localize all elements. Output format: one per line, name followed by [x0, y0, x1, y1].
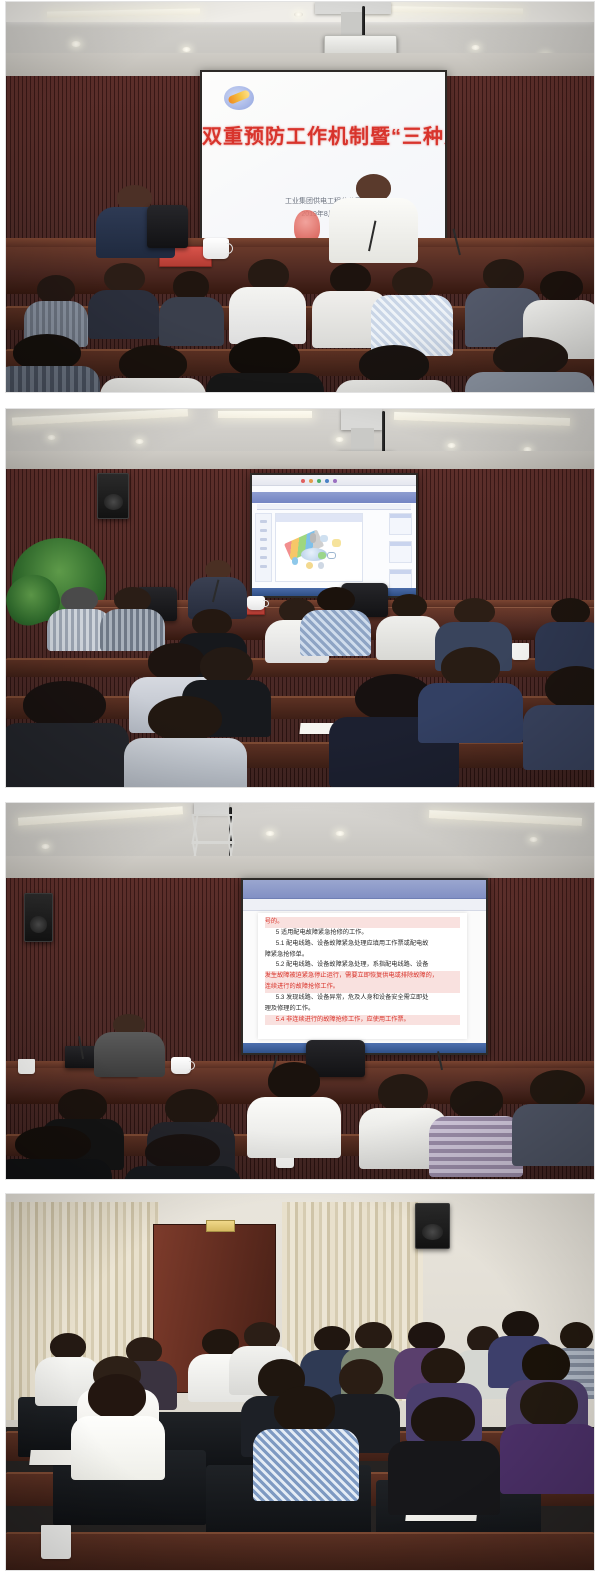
person-head [392, 594, 427, 618]
audience-member [24, 275, 89, 341]
document-line: 连续进行的故障抢修工作。 [265, 982, 460, 993]
document-line: 发生故障被迫紧急停止运行，需要立即恢复供电或排除故障的， [265, 971, 460, 982]
person-head [200, 647, 253, 684]
person-head [441, 647, 500, 687]
person-body [429, 1116, 523, 1177]
conference-room-scene-3: 号的。 5 适用配电故障紧急抢修的工作。 5.1 配电线路、设备故障紧急处理应填… [6, 803, 594, 1179]
chip-icon [327, 552, 336, 559]
audience-member-front [124, 1134, 242, 1180]
browser-address-bar [252, 475, 416, 486]
software-portal-slide [252, 475, 416, 596]
exam-candidate-front [388, 1397, 500, 1510]
projector-cable [362, 6, 365, 37]
person-head [483, 259, 524, 290]
person-head [522, 1344, 570, 1384]
person-head [274, 1386, 335, 1433]
person-body [535, 622, 595, 671]
downlight [529, 837, 538, 842]
person-body [100, 378, 206, 393]
document-slide: 号的。 5 适用配电故障紧急抢修的工作。 5.1 配电线路、设备故障紧急处理应填… [243, 880, 486, 1053]
wall-speaker [97, 473, 129, 518]
wall-speaker [24, 893, 53, 942]
person-body [124, 1166, 242, 1180]
screen-content: 号的。 5 适用配电故障紧急抢修的工作。 5.1 配电线路、设备故障紧急处理应填… [243, 880, 486, 1053]
projection-screen-2[interactable] [250, 473, 418, 598]
document-line: 5.1 配电线路、设备故障紧急处理应填用工作票或配电故 [265, 939, 460, 950]
person-body [229, 287, 305, 343]
person-body [300, 610, 371, 656]
document-line: 障紧急抢修单。 [265, 950, 460, 961]
photo-written-examination[interactable] [5, 1193, 595, 1571]
person-head [248, 259, 289, 290]
ceiling-light-slot [218, 411, 312, 418]
person-head [58, 1089, 107, 1123]
person-head [145, 1134, 220, 1170]
person-head [15, 1126, 90, 1162]
document-toolbar[interactable] [243, 899, 486, 911]
projector-ceiling-plate [341, 409, 382, 430]
paper-cup [41, 1525, 70, 1559]
portal-tabs[interactable] [257, 504, 411, 510]
person-head [408, 1322, 444, 1351]
chip-icon [292, 557, 299, 565]
portal-widget[interactable] [389, 541, 412, 563]
room-number-sign [206, 1220, 235, 1231]
audience-member [371, 267, 453, 349]
audience-member-front [206, 337, 324, 393]
portal-hero-illustration [286, 530, 352, 574]
portal-widget[interactable] [389, 513, 412, 535]
person-head [330, 263, 371, 294]
portal-main-panel [275, 513, 363, 582]
audience-member-front [124, 696, 247, 788]
bench-row-front [6, 1532, 594, 1570]
document-line: 5 适用配电故障紧急抢修的工作。 [265, 928, 460, 939]
audience-member-front [100, 345, 206, 393]
audience-member-front [5, 334, 100, 394]
person-body [124, 738, 247, 788]
audience-member [159, 271, 224, 341]
person-head [165, 1089, 218, 1126]
exam-candidate-front [71, 1374, 165, 1472]
person-body [253, 1429, 359, 1501]
projector-arm [351, 428, 375, 451]
document-ribbon[interactable] [243, 880, 486, 899]
audience-member-front [418, 647, 524, 738]
person-body [247, 1097, 341, 1158]
audience-member [100, 587, 165, 647]
person-head [104, 263, 145, 293]
person-body [5, 723, 129, 788]
chip-icon [306, 562, 313, 569]
scissor-lift-arm [192, 814, 236, 844]
person-head [392, 267, 433, 297]
chip-icon [318, 552, 326, 559]
upper-wall [6, 451, 594, 470]
audience-member-front [5, 1126, 112, 1180]
person-head [421, 1348, 465, 1386]
person-head [359, 345, 430, 384]
downlight [71, 41, 81, 47]
audience-member [88, 263, 159, 333]
document-line: 5.3 发现线路、设备异常，危及人身和设备安全需立即处 [265, 993, 460, 1004]
person-head [520, 1382, 578, 1427]
person-head [148, 696, 222, 741]
photo-document-briefing[interactable]: 号的。 5 适用配电故障紧急抢修的工作。 5.1 配电线路、设备故障紧急处理应填… [5, 802, 595, 1180]
person-head [502, 1311, 538, 1340]
person-body [500, 1424, 595, 1493]
document-line: 号的。 [265, 917, 460, 928]
person-head [355, 1322, 391, 1351]
photo-system-demonstration[interactable] [5, 408, 595, 788]
person-body [94, 1032, 165, 1077]
audience-member-front [335, 345, 453, 393]
executive-chair [147, 205, 188, 248]
lecturer [94, 1014, 165, 1074]
audience-member [247, 1062, 341, 1152]
portal-right-panel [389, 513, 412, 582]
upper-wall [6, 856, 594, 879]
audience-member [429, 1081, 523, 1171]
audience-member [229, 259, 305, 337]
person-head [540, 271, 583, 302]
person-head [37, 275, 76, 304]
person-head [454, 598, 495, 625]
portal-main-header [276, 514, 362, 522]
audience-member-front [465, 337, 594, 393]
person-body [5, 1159, 112, 1180]
teacup [247, 596, 265, 610]
company-oval-logo-icon [224, 86, 254, 110]
photo-gallery: 双重预防工作机制暨“三种人”培训 工业集团供电工程分公司 2019年8月1日 [0, 0, 600, 1573]
person-head [450, 1081, 503, 1119]
exam-candidate-front [500, 1382, 595, 1487]
person-body [88, 290, 159, 339]
document-line: 理及修理的工作。 [265, 1004, 460, 1015]
teacup [171, 1057, 191, 1074]
person-body [465, 372, 594, 393]
person-head [317, 587, 355, 613]
projector-arm [341, 12, 362, 35]
projector-ceiling-plate [194, 803, 229, 814]
person-head [493, 337, 568, 376]
person-head [23, 681, 106, 728]
teacup [203, 238, 229, 259]
slide-heading: 双重预防工作机制暨“三种人”培训 [202, 120, 445, 149]
photo-opening-address[interactable]: 双重预防工作机制暨“三种人”培训 工业集团供电工程分公司 2019年8月1日 [5, 1, 595, 393]
person-head [268, 1062, 321, 1100]
person-head [88, 1374, 146, 1419]
person-head [378, 1074, 427, 1112]
person-body [5, 366, 100, 393]
conference-room-scene-1: 双重预防工作机制暨“三种人”培训 工业集团供电工程分公司 2019年8月1日 [6, 2, 594, 392]
browser-dots [301, 479, 337, 483]
paper-cup [18, 1059, 36, 1074]
person-head [551, 598, 591, 625]
portal-left-menu[interactable] [255, 513, 271, 582]
document-line: 5.2 配电线路、设备故障紧急处理，系指配电线路、设备 [265, 960, 460, 971]
audience-member [300, 587, 371, 651]
downlight [471, 45, 480, 50]
projection-screen-3[interactable]: 号的。 5 适用配电故障紧急抢修的工作。 5.1 配电线路、设备故障紧急处理应填… [241, 878, 488, 1055]
conference-room-scene-4 [6, 1194, 594, 1570]
screen-content [252, 475, 416, 596]
person-body [418, 683, 524, 743]
conference-room-scene-2 [6, 409, 594, 787]
person-head [545, 666, 595, 709]
chip-icon [332, 539, 341, 546]
person-head [244, 1322, 280, 1349]
chip-icon [310, 533, 316, 543]
person-body [523, 705, 595, 770]
audience-member [376, 594, 441, 654]
panel-speaker-right [329, 174, 417, 260]
audience-member-front [5, 681, 129, 779]
chip-icon [320, 535, 327, 542]
person-head [530, 1070, 585, 1108]
person-body [388, 1441, 500, 1515]
portal-top-nav[interactable] [252, 492, 416, 503]
chip-icon [318, 562, 325, 568]
downlight [294, 12, 303, 17]
audience-member-front [523, 666, 595, 764]
audience-member [512, 1070, 595, 1160]
person-head [411, 1397, 476, 1444]
document-page: 号的。 5 适用配电故障紧急抢修的工作。 5.1 配电线路、设备故障紧急处理应填… [258, 913, 467, 1039]
document-line: 5.4 非连续进行的故障抢修工作，应使用工作票。 [265, 1015, 460, 1026]
person-head [229, 337, 300, 376]
person-body [512, 1104, 595, 1165]
exam-candidate-front [253, 1386, 359, 1495]
person-body [206, 373, 324, 393]
person-body [335, 380, 453, 394]
person-body [71, 1416, 165, 1481]
downlight [447, 443, 456, 448]
wall-speaker [415, 1203, 450, 1248]
audience-member [535, 598, 595, 666]
